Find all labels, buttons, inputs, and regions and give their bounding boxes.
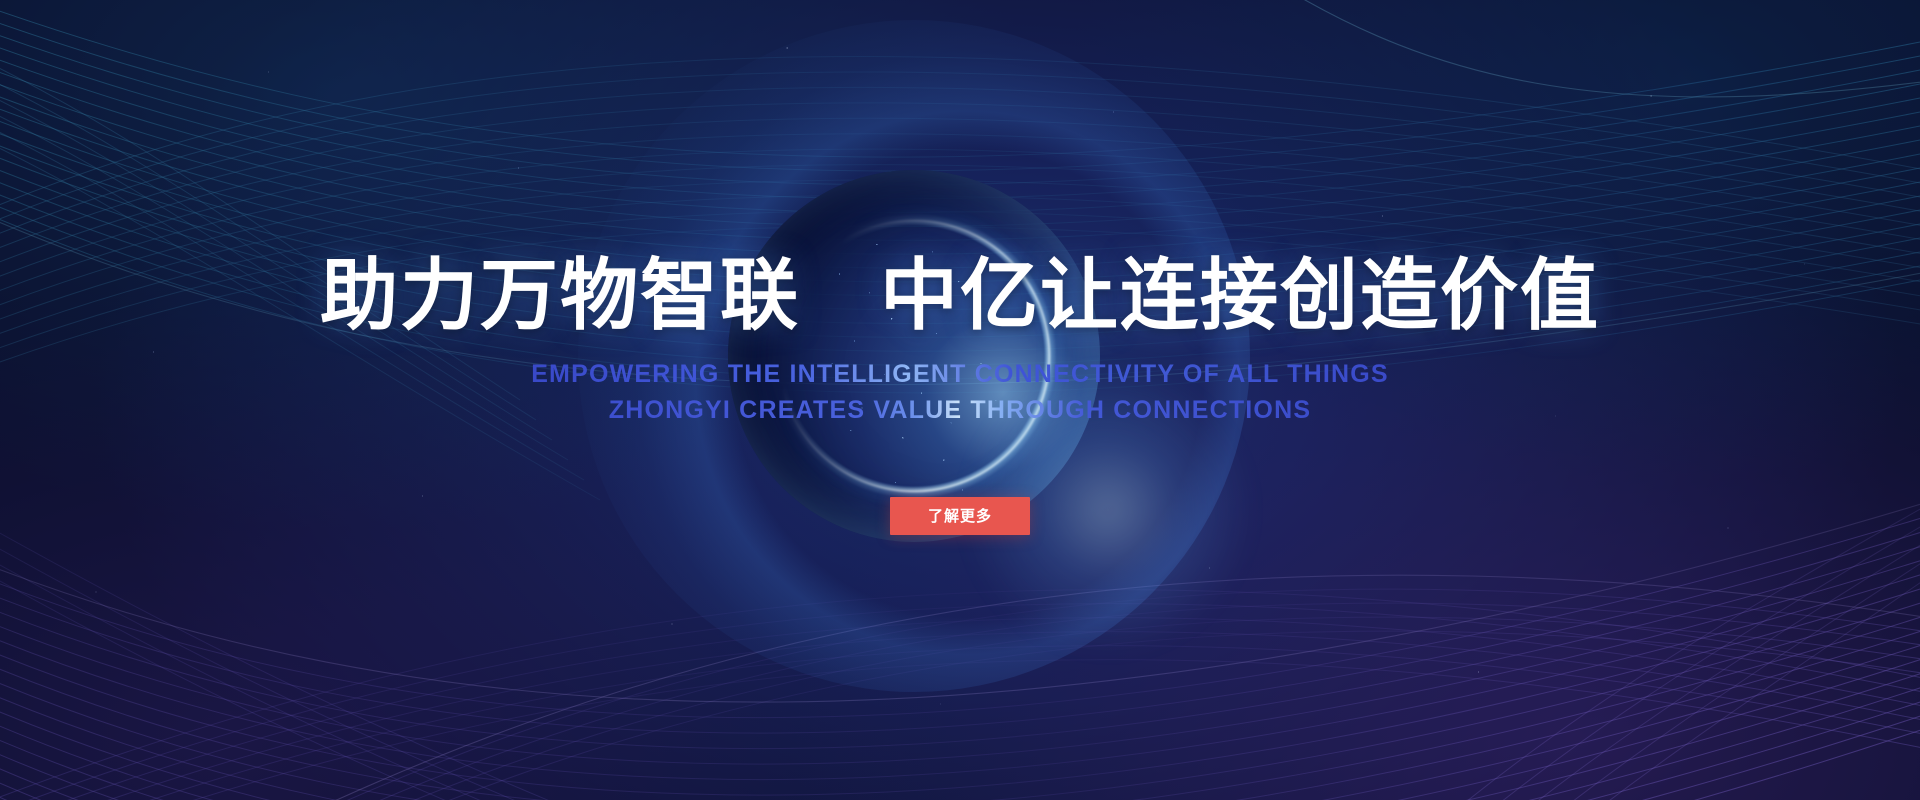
cta-container: 了解更多 [890,497,1030,535]
globe-rim-glow [720,162,1108,550]
hero-subtitle-group: EMPOWERING THE INTELLIGENT CONNECTIVITY … [531,361,1389,425]
globe-city-lights [728,170,1100,542]
globe-sphere [728,170,1100,542]
hero-subtitle-line-1: EMPOWERING THE INTELLIGENT CONNECTIVITY … [531,361,1389,389]
hero-headline: 助力万物智联 中亿让连接创造价值 [320,255,1600,337]
globe-halo [578,20,1250,692]
learn-more-button[interactable]: 了解更多 [890,497,1030,535]
hero-subtitle-line-2: ZHONGYI CREATES VALUE THROUGH CONNECTION… [609,397,1311,425]
hero-content: 助力万物智联 中亿让连接创造价值 EMPOWERING THE INTELLIG… [0,0,1920,800]
earth-globe-icon [728,170,1100,542]
hero-banner: 助力万物智联 中亿让连接创造价值 EMPOWERING THE INTELLIG… [0,0,1920,800]
